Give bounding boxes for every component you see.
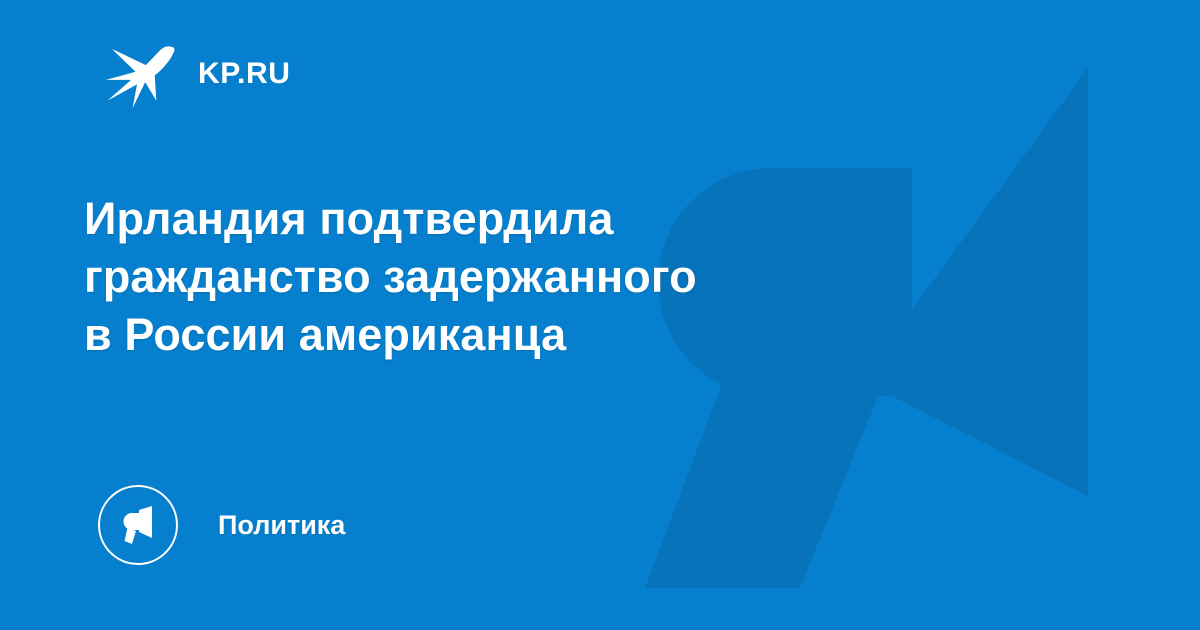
social-share-card: KP.RU Ирландия подтвердила гражданство з…	[0, 0, 1200, 630]
swallow-bird-icon	[103, 37, 177, 111]
category-label: Политика	[218, 512, 345, 539]
headline-line-2: гражданство задержанного	[84, 248, 944, 306]
category-icon-circle	[98, 485, 178, 565]
category-badge[interactable]: Политика	[98, 485, 345, 565]
megaphone-icon	[115, 502, 161, 548]
headline-line-3: в России американца	[84, 306, 944, 364]
headline-line-1: Ирландия подтвердила	[84, 190, 944, 248]
brand-logo[interactable]: KP.RU	[103, 36, 290, 112]
page-title: Ирландия подтвердила гражданство задержа…	[84, 190, 944, 364]
brand-name: KP.RU	[198, 59, 290, 89]
